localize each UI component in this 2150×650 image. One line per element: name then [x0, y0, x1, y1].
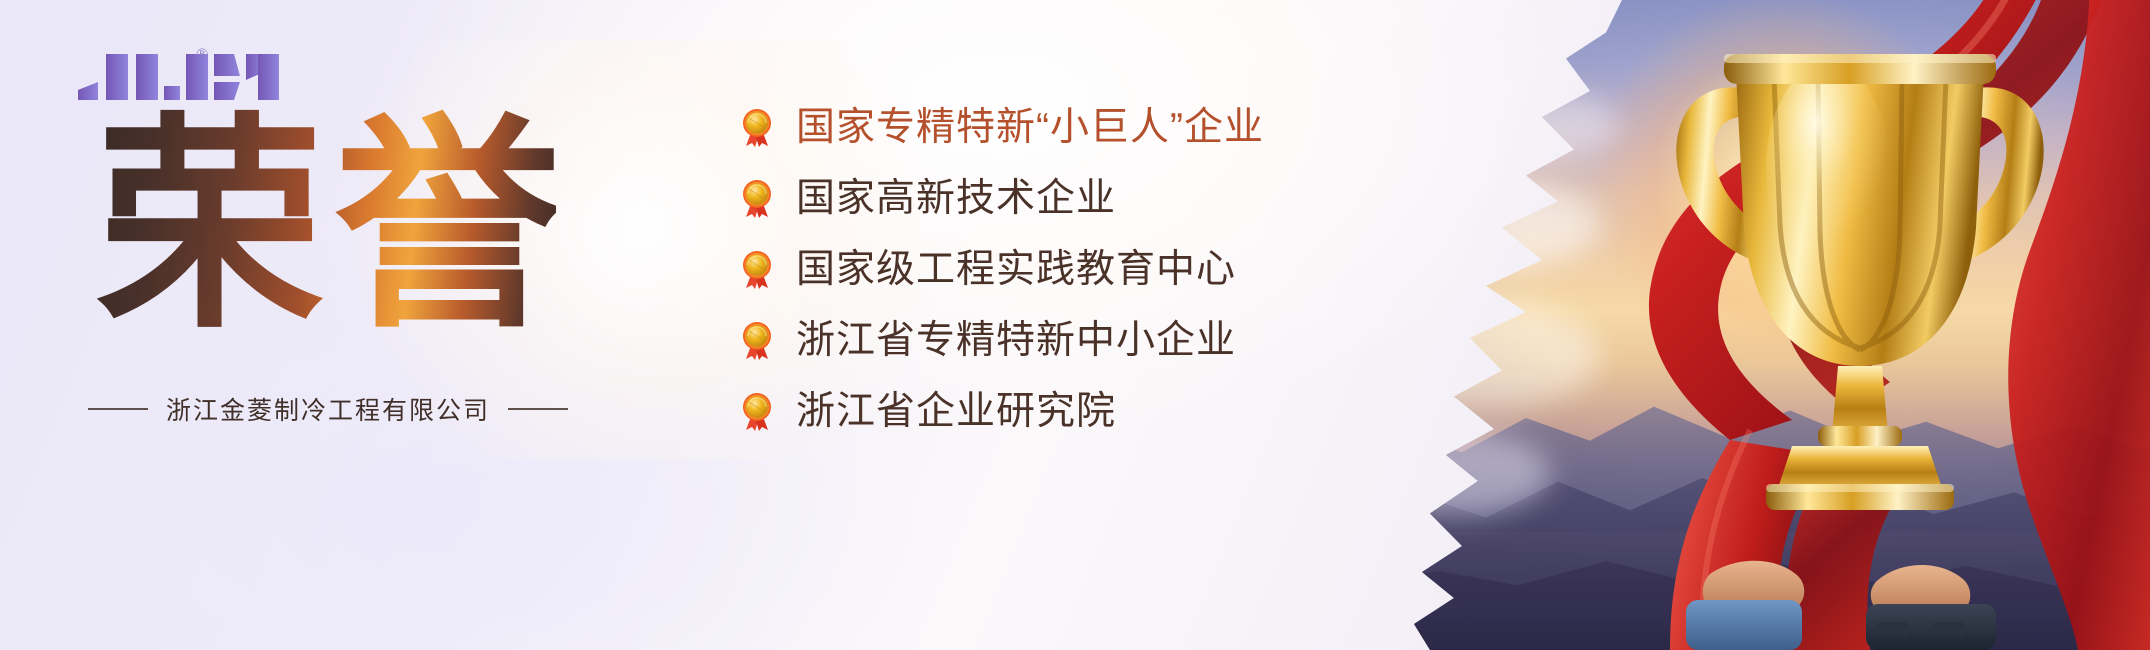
- medal-rosette-icon: [740, 392, 774, 432]
- medal-rosette-icon: [740, 179, 774, 219]
- page-title: 荣誉: [96, 108, 556, 358]
- honors-list: 国家专精特新“小巨人”企业 国家高新技术企业: [740, 92, 1400, 447]
- honor-item-2: 国家高新技术企业: [740, 163, 1400, 234]
- honor-label: 国家专精特新“小巨人”企业: [796, 106, 1264, 150]
- medal-rosette-icon: [740, 250, 774, 290]
- honor-item-4: 浙江省专精特新中小企业: [740, 305, 1400, 376]
- registered-trademark-icon: ®: [196, 46, 208, 64]
- honor-banner: ® 荣誉 浙江金菱制冷工程有限公司: [0, 0, 2150, 650]
- honor-label: 国家高新技术企业: [796, 177, 1116, 221]
- company-logo[interactable]: [76, 52, 281, 104]
- honor-label: 浙江省企业研究院: [796, 390, 1116, 434]
- honor-item-3: 国家级工程实践教育中心: [740, 234, 1400, 305]
- honor-item-5: 浙江省企业研究院: [740, 376, 1400, 447]
- cloud-puff: [1350, 430, 1550, 516]
- medal-rosette-icon: [740, 108, 774, 148]
- honor-item-1: 国家专精特新“小巨人”企业: [740, 92, 1400, 163]
- page-title-text: 荣誉: [96, 108, 556, 346]
- cloud-puff: [1390, 180, 1600, 270]
- honor-label: 浙江省专精特新中小企业: [796, 319, 1236, 363]
- rule-right: [508, 408, 568, 410]
- company-name-row: 浙江金菱制冷工程有限公司: [88, 392, 508, 426]
- hands-holding-trophy: [1680, 530, 2010, 650]
- cloud-puff: [1440, 90, 1620, 160]
- medal-rosette-icon: [740, 321, 774, 361]
- cloud-puff: [1360, 300, 1600, 410]
- company-name: 浙江金菱制冷工程有限公司: [166, 391, 490, 427]
- trophy-photo-artwork: [1350, 0, 2150, 650]
- honor-label: 国家级工程实践教育中心: [796, 248, 1236, 292]
- rule-left: [88, 408, 148, 410]
- gold-trophy-icon: [1650, 18, 2070, 578]
